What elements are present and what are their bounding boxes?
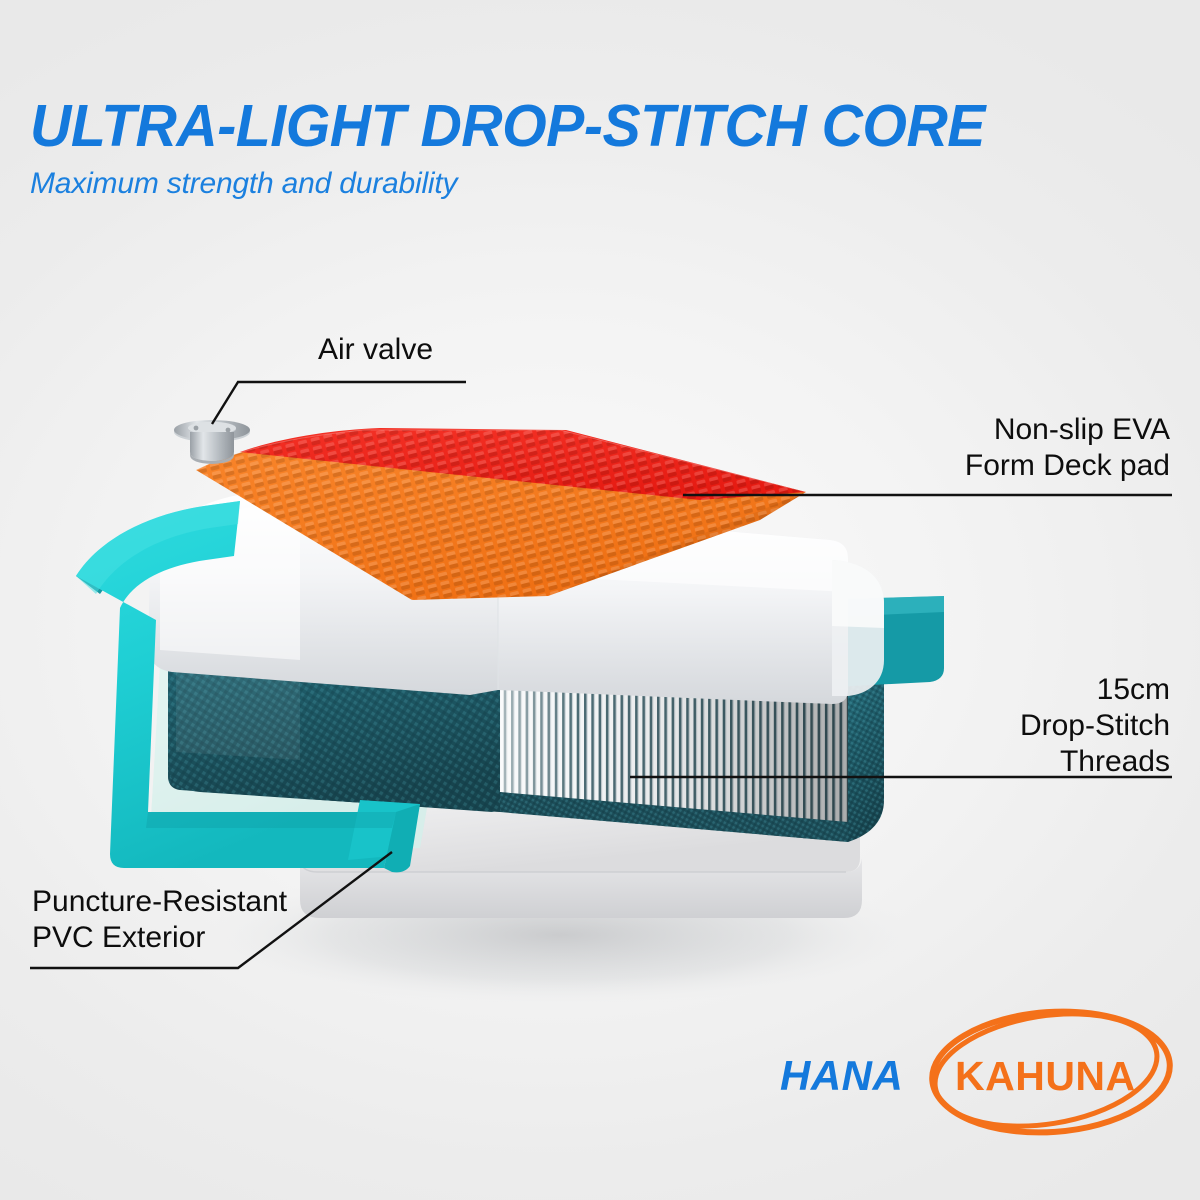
brand-logo: HANA KAHUNA (780, 1000, 1180, 1150)
leader-air-valve (212, 382, 466, 424)
callout-pvc-exterior: Puncture-Resistant PVC Exterior (32, 884, 432, 956)
logo-word-hana: HANA (780, 1052, 903, 1100)
infographic-page: ULTRA-LIGHT DROP-STITCH CORE Maximum str… (0, 0, 1200, 1200)
callout-air-valve: Air valve (318, 332, 433, 368)
callout-deck-pad: Non-slip EVA Form Deck pad (900, 412, 1170, 484)
logo-word-kahuna: KAHUNA (955, 1053, 1136, 1100)
callout-drop-stitch-threads: 15cm Drop-Stitch Threads (900, 672, 1170, 780)
